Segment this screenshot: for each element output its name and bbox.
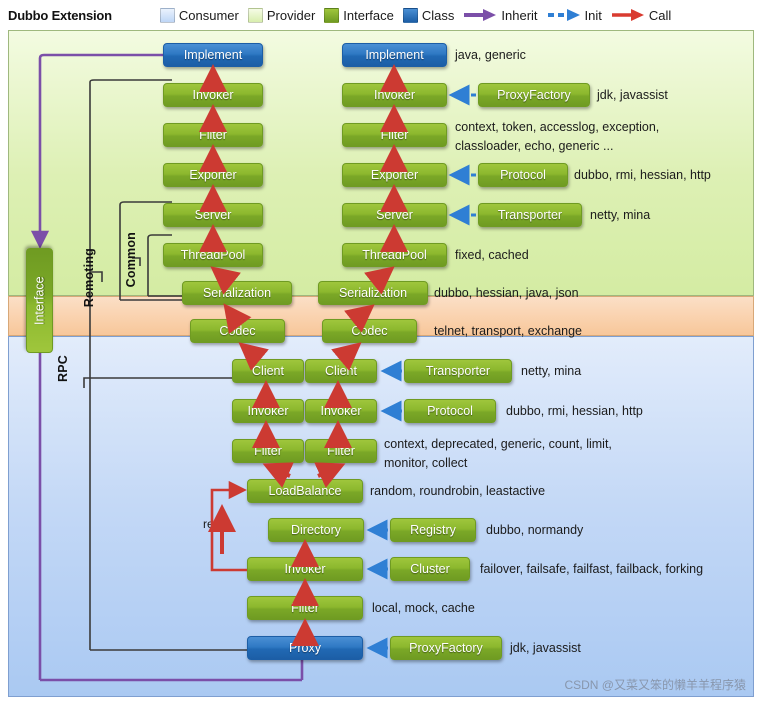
annot-provider-implement: java, generic [455,48,526,63]
node-provider-left-codec[interactable]: Codec [190,319,285,343]
side-label-remoting: Remoting [82,248,96,307]
node-interface-spine[interactable]: Interface [26,248,53,353]
annot-provider-threadpool: fixed, cached [455,248,529,263]
node-consumer-directory[interactable]: Directory [268,518,364,542]
node-provider-left-invoker[interactable]: Invoker [163,83,263,107]
node-consumer-invoker[interactable]: Invoker [247,557,363,581]
annot-provider-protocol: dubbo, rmi, hessian, http [574,168,711,183]
annot-consumer-loadbalance: random, roundrobin, leastactive [370,484,545,499]
node-consumer-left-filter[interactable]: Filter [232,439,304,463]
annot-consumer-transporter: netty, mina [521,364,581,379]
node-provider-protocol[interactable]: Protocol [478,163,568,187]
side-label-common: Common [124,232,138,287]
side-label-rpc: RPC [56,355,70,382]
node-provider-right-threadpool[interactable]: ThreadPool [342,243,447,267]
node-provider-right-filter[interactable]: Filter [342,123,447,147]
annot-consumer-protocol: dubbo, rmi, hessian, http [506,404,643,419]
node-consumer-right-client[interactable]: Client [305,359,377,383]
node-consumer-right-filter[interactable]: Filter [305,439,377,463]
node-provider-right-codec[interactable]: Codec [322,319,417,343]
node-provider-left-implement[interactable]: Implement [163,43,263,67]
annot-provider-proxyfactory: jdk, javassist [597,88,668,103]
annot-consumer-proxyfactory: jdk, javassist [510,641,581,656]
node-provider-left-threadpool[interactable]: ThreadPool [163,243,263,267]
annot-consumer-registry: dubbo, normandy [486,523,583,538]
annot-provider-filter-line2: classloader, echo, generic ... [455,139,613,154]
annot-provider-filter-line1: context, token, accesslog, exception, [455,120,659,135]
node-consumer-filter[interactable]: Filter [247,596,363,620]
node-consumer-proxyfactory[interactable]: ProxyFactory [390,636,502,660]
label-retry: retry [203,517,227,532]
node-consumer-cluster[interactable]: Cluster [390,557,470,581]
node-provider-right-invoker[interactable]: Invoker [342,83,447,107]
node-provider-proxyfactory[interactable]: ProxyFactory [478,83,590,107]
node-provider-right-server[interactable]: Server [342,203,447,227]
node-provider-transporter[interactable]: Transporter [478,203,582,227]
annot-provider-codec: telnet, transport, exchange [434,324,582,339]
annot-consumer-filter-line2: monitor, collect [384,456,467,471]
node-provider-left-serialization[interactable]: Serialization [182,281,292,305]
node-consumer-right-invoker[interactable]: Invoker [305,399,377,423]
node-consumer-left-invoker[interactable]: Invoker [232,399,304,423]
annot-consumer-cluster: failover, failsafe, failfast, failback, … [480,562,703,577]
node-consumer-registry[interactable]: Registry [390,518,476,542]
node-consumer-left-client[interactable]: Client [232,359,304,383]
node-consumer-transporter[interactable]: Transporter [404,359,512,383]
node-consumer-loadbalance[interactable]: LoadBalance [247,479,363,503]
node-provider-left-filter[interactable]: Filter [163,123,263,147]
node-consumer-protocol[interactable]: Protocol [404,399,496,423]
node-consumer-proxy[interactable]: Proxy [247,636,363,660]
node-provider-left-exporter[interactable]: Exporter [163,163,263,187]
node-provider-left-server[interactable]: Server [163,203,263,227]
annot-provider-transporter: netty, mina [590,208,650,223]
dubbo-extension-diagram: Dubbo Extension Consumer Provider Interf… [0,0,762,705]
annot-consumer-filter-line1: context, deprecated, generic, count, lim… [384,437,612,452]
node-provider-right-implement[interactable]: Implement [342,43,447,67]
node-provider-right-serialization[interactable]: Serialization [318,281,428,305]
annot-provider-serialization: dubbo, hessian, java, json [434,286,579,301]
annot-consumer-filter-bottom: local, mock, cache [372,601,475,616]
watermark: CSDN @又菜又笨的懒羊羊程序猿 [564,676,746,693]
node-provider-right-exporter[interactable]: Exporter [342,163,447,187]
